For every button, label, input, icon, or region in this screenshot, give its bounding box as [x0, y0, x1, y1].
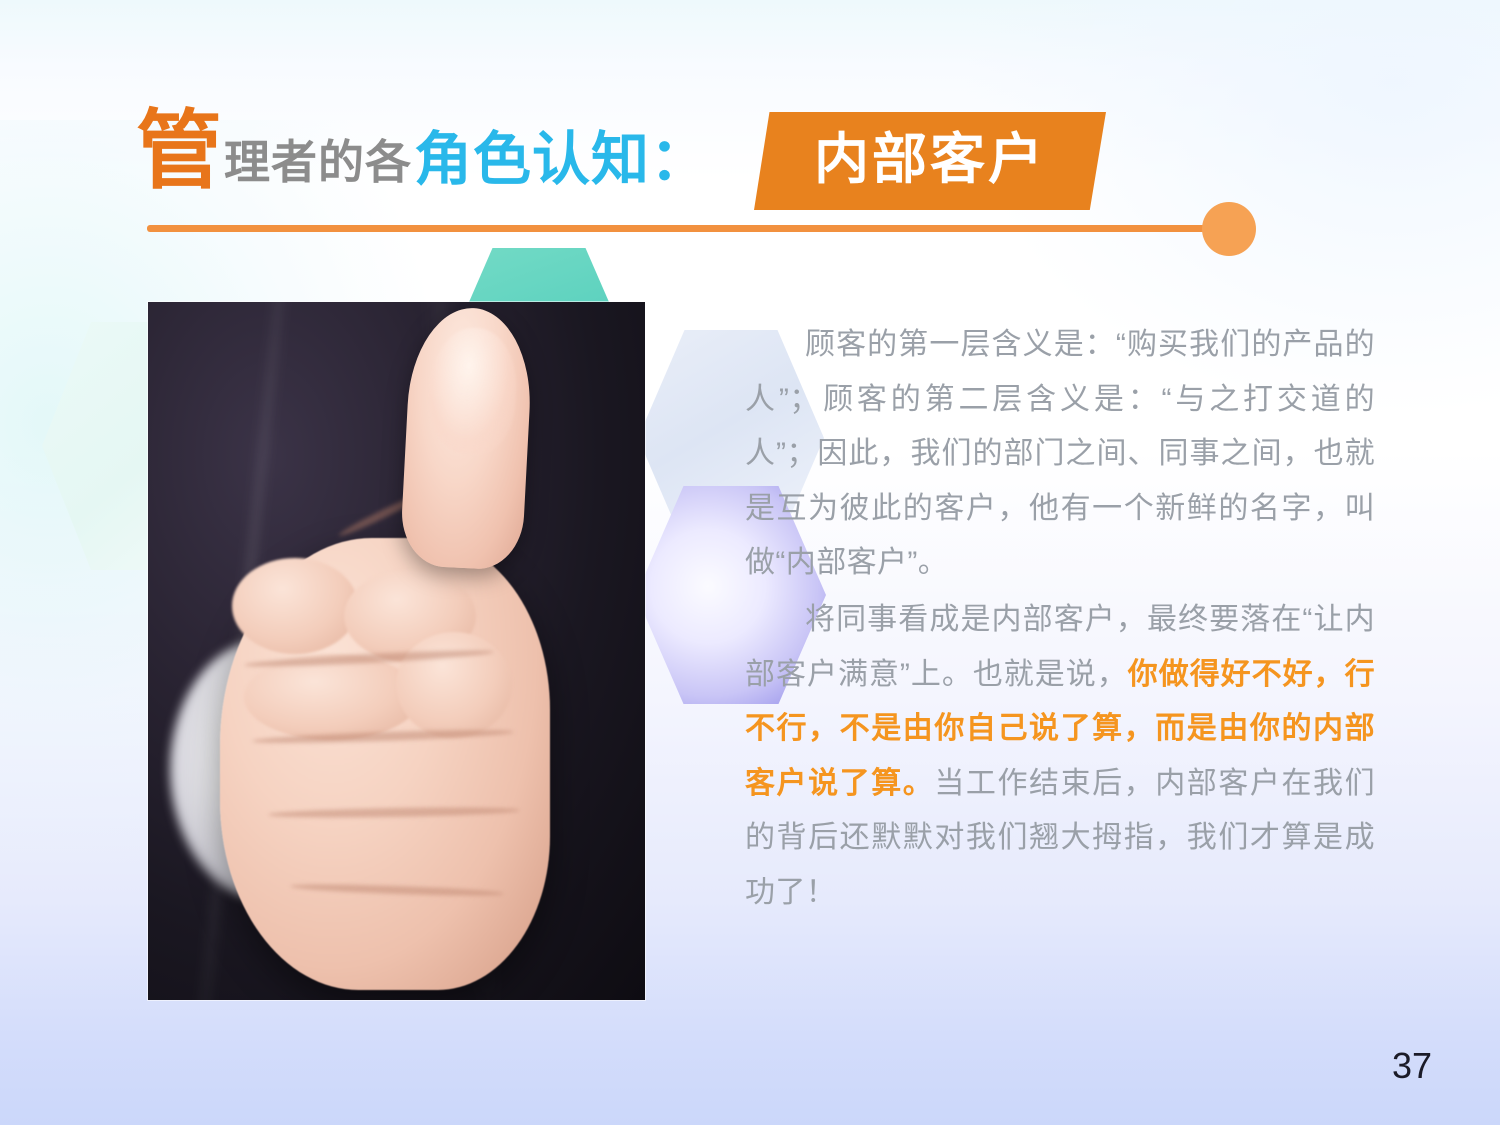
- orange-dot-icon: [1202, 202, 1256, 256]
- knuckle-1: [232, 558, 358, 654]
- slide-root: 管 理者的各 角色认知： 内部客户: [0, 0, 1500, 1125]
- title-gray-text: 理者的各: [224, 139, 412, 191]
- page-number: 37: [1392, 1045, 1432, 1087]
- section-banner: 内部客户: [754, 112, 1106, 210]
- thumbs-up-photo: [148, 302, 645, 1000]
- title-big-char: 管: [136, 112, 222, 191]
- knuckle-4: [396, 632, 512, 738]
- title-underline-rule: [147, 225, 1215, 232]
- paragraph-1: 顾客的第一层含义是：“购买我们的产品的人”；顾客的第二层含义是：“与之打交道的人…: [745, 318, 1375, 591]
- page-title: 管 理者的各 角色认知：: [136, 112, 709, 191]
- knuckle-3: [244, 654, 420, 740]
- slide-header: 管 理者的各 角色认知： 内部客户: [0, 0, 1500, 260]
- section-banner-label: 内部客户: [814, 132, 1046, 187]
- body-copy: 顾客的第一层含义是：“购买我们的产品的人”；顾客的第二层含义是：“与之打交道的人…: [745, 318, 1375, 921]
- title-cyan-text: 角色认知：: [414, 131, 709, 191]
- paragraph-2: 将同事看成是内部客户，最终要落在“让内部客户满意”上。也就是说，你做得好不好，行…: [745, 593, 1375, 921]
- paragraph-1-text: 顾客的第一层含义是：“购买我们的产品的人”；顾客的第二层含义是：“与之打交道的人…: [745, 328, 1375, 579]
